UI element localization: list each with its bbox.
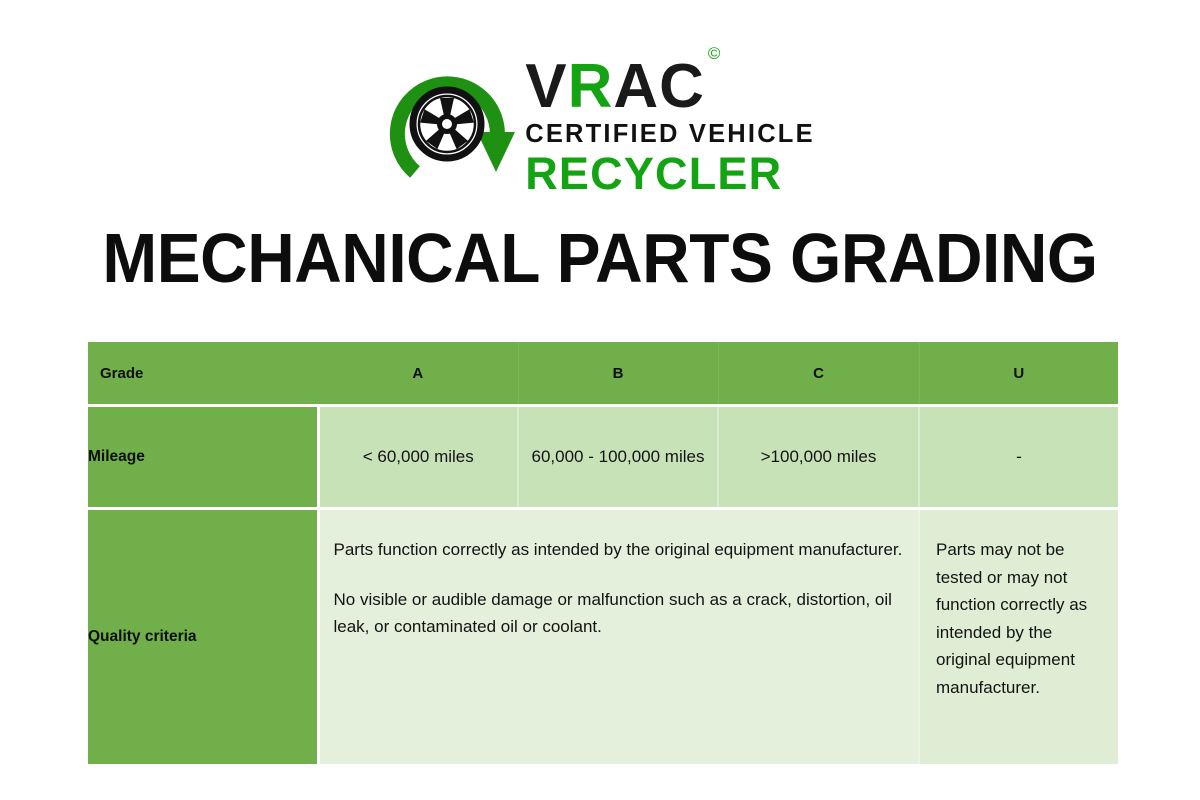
- cell-mileage-a: < 60,000 miles: [318, 406, 518, 509]
- cell-quality-abc-paragraph-2: No visible or audible damage or malfunct…: [334, 586, 905, 641]
- row-label-mileage: Mileage: [88, 406, 318, 509]
- header-cell-a: A: [318, 342, 518, 406]
- logo-letter-a: A: [613, 52, 659, 121]
- logo-letter-v: V: [525, 52, 567, 121]
- cell-quality-abc: Parts function correctly as intended by …: [318, 509, 919, 765]
- copyright-icon: ©: [708, 44, 722, 63]
- logo-letter-r: R: [568, 52, 614, 121]
- cell-quality-u: Parts may not be tested or may not funct…: [919, 509, 1118, 765]
- table-header-row: Grade A B C U: [88, 342, 1118, 406]
- header-cell-grade: Grade: [88, 342, 318, 406]
- logo-inner: VRAC© CERTIFIED VEHICLE RECYCLER: [385, 52, 815, 196]
- mechanical-parts-grading-table: Grade A B C U Mileage < 60,000 miles 60,…: [88, 342, 1118, 764]
- table-row-quality-criteria: Quality criteria Parts function correctl…: [88, 509, 1118, 765]
- brand-logo: VRAC© CERTIFIED VEHICLE RECYCLER: [0, 52, 1200, 202]
- logo-letter-c: C: [659, 52, 705, 121]
- header-cell-c: C: [718, 342, 919, 406]
- header-cell-u: U: [919, 342, 1118, 406]
- table-row-mileage: Mileage < 60,000 miles 60,000 - 100,000 …: [88, 406, 1118, 509]
- page-title: MECHANICAL PARTS GRADING: [36, 218, 1164, 298]
- row-label-quality-criteria: Quality criteria: [88, 509, 318, 765]
- logo-wordmark-group: VRAC© CERTIFIED VEHICLE RECYCLER: [525, 52, 815, 196]
- cell-mileage-b: 60,000 - 100,000 miles: [518, 406, 718, 509]
- logo-recycler-word: RECYCLER: [525, 151, 782, 196]
- cell-mileage-u: -: [919, 406, 1118, 509]
- header-cell-b: B: [518, 342, 718, 406]
- cell-mileage-c: >100,000 miles: [718, 406, 919, 509]
- logo-tagline: CERTIFIED VEHICLE: [525, 122, 815, 148]
- logo-brand-text: VRAC©: [525, 56, 718, 118]
- cell-quality-abc-paragraph-1: Parts function correctly as intended by …: [334, 536, 905, 564]
- recycle-arrow-wheel-icon: [385, 54, 517, 194]
